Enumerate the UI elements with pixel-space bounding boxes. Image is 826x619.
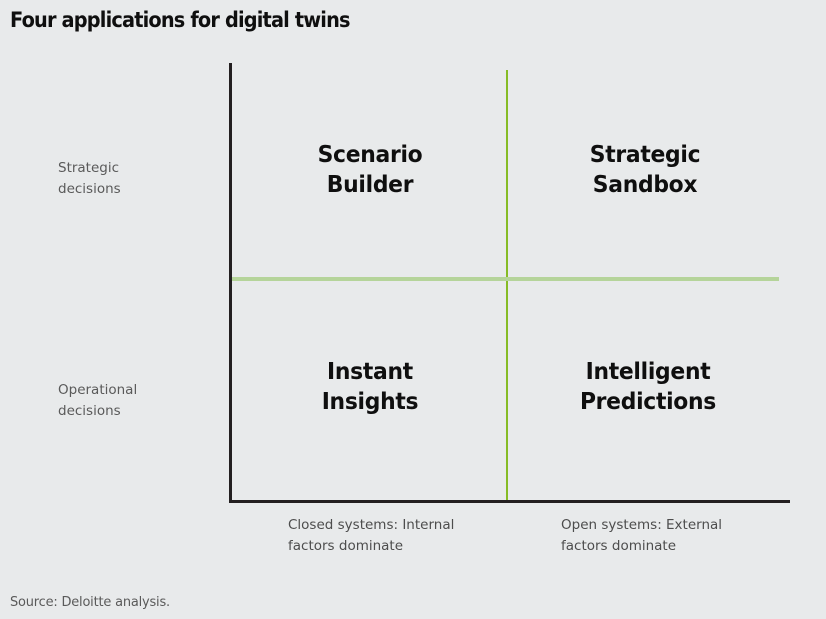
- x-axis-label-line-2: factors dominate: [561, 536, 791, 557]
- page-title: Four applications for digital twins: [10, 8, 728, 32]
- x-axis-line: [229, 500, 790, 503]
- quadrant-label-line-1: Strategic: [531, 140, 759, 170]
- x-axis-label-line-2: factors dominate: [288, 536, 518, 557]
- y-axis-label-line-1: Operational: [58, 380, 218, 401]
- quadrant-divider-vertical: [506, 70, 508, 500]
- y-axis-line: [229, 63, 232, 503]
- quadrant-divider-horizontal: [232, 277, 779, 281]
- y-axis-label-strategic-decisions: Strategic decisions: [58, 158, 218, 200]
- quadrant-plot-area: [229, 63, 790, 501]
- source-note: Source: Deloitte analysis.: [10, 594, 170, 610]
- quadrant-label-line-2: Sandbox: [531, 170, 759, 200]
- x-axis-label-closed-systems: Closed systems: Internal factors dominat…: [288, 515, 518, 557]
- quadrant-label-line-2: Insights: [256, 387, 484, 417]
- x-axis-label-open-systems: Open systems: External factors dominate: [561, 515, 791, 557]
- quadrant-label-line-1: Scenario: [256, 140, 484, 170]
- quadrant-label-strategic-sandbox: Strategic Sandbox: [531, 140, 759, 200]
- y-axis-label-line-1: Strategic: [58, 158, 218, 179]
- x-axis-label-line-1: Open systems: External: [561, 515, 791, 536]
- quadrant-label-line-1: Instant: [256, 357, 484, 387]
- quadrant-label-scenario-builder: Scenario Builder: [256, 140, 484, 200]
- chart-figure: Four applications for digital twins Scen…: [0, 0, 826, 619]
- quadrant-label-line-2: Builder: [256, 170, 484, 200]
- quadrant-label-instant-insights: Instant Insights: [256, 357, 484, 417]
- y-axis-label-operational-decisions: Operational decisions: [58, 380, 218, 422]
- quadrant-label-intelligent-predictions: Intelligent Predictions: [529, 357, 767, 417]
- y-axis-label-line-2: decisions: [58, 401, 218, 422]
- x-axis-label-line-1: Closed systems: Internal: [288, 515, 518, 536]
- quadrant-label-line-1: Intelligent: [529, 357, 767, 387]
- y-axis-label-line-2: decisions: [58, 179, 218, 200]
- quadrant-label-line-2: Predictions: [529, 387, 767, 417]
